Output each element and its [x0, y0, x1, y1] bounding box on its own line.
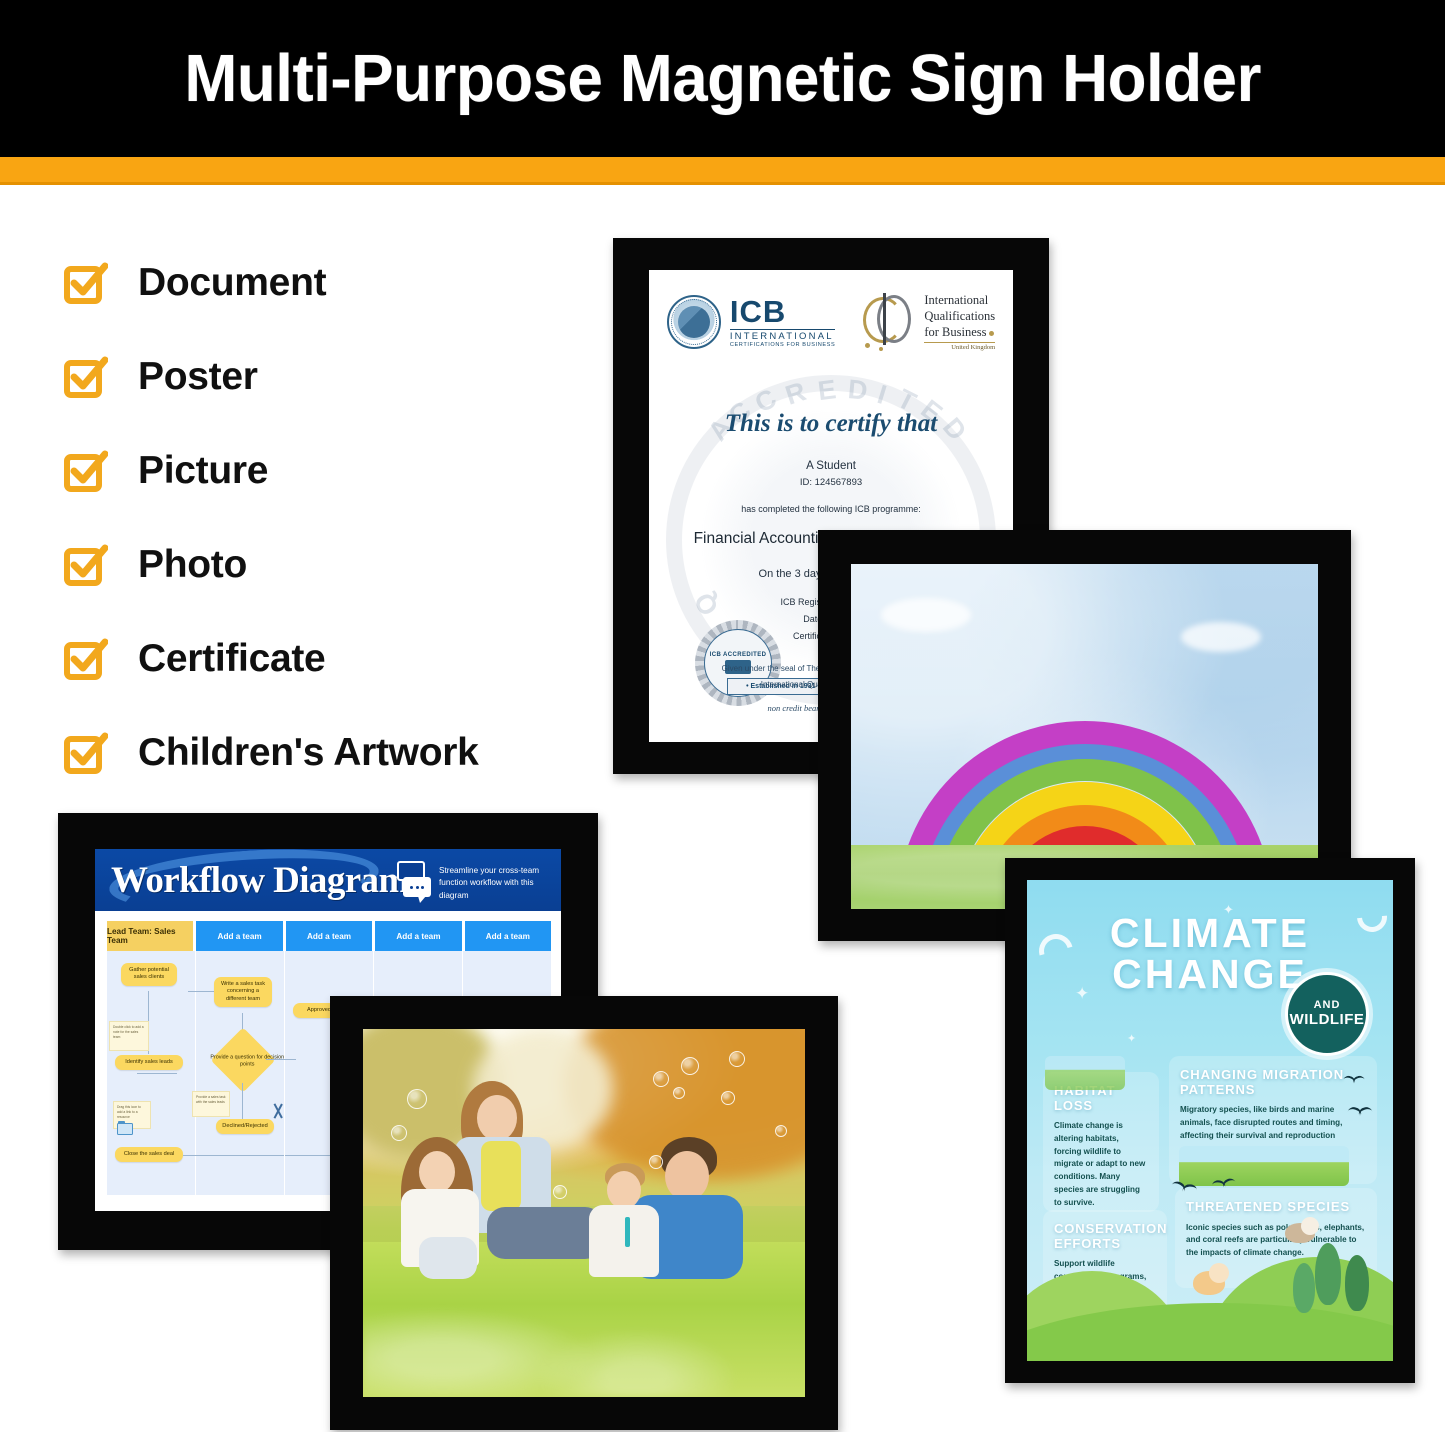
iqb-line3: for Business [924, 325, 986, 339]
cloud-shape [881, 598, 971, 632]
bubble [775, 1125, 787, 1137]
sparkle-icon: ✦ [1127, 1032, 1136, 1045]
flow-node: Close the sales deal [115, 1147, 183, 1162]
bubble [729, 1051, 745, 1067]
flow-node: Declined/Rejected [216, 1119, 274, 1134]
list-item-label: Document [138, 261, 326, 305]
tree-icon [1315, 1243, 1341, 1305]
sticky-note: Double click to add a note for the sales… [109, 1021, 149, 1051]
connector [242, 1083, 243, 1119]
list-item: Picture [62, 424, 602, 518]
checkbox-checked-icon [62, 543, 106, 587]
iqb-line1: International [924, 292, 995, 308]
feature-list: Document Poster Picture [62, 236, 602, 800]
iqb-line2: Qualifications [924, 308, 995, 324]
icb-logo: ICB INTERNATIONAL CERTIFICATIONS FOR BUS… [667, 295, 836, 349]
list-item: Children's Artwork [62, 706, 602, 800]
list-item-label: Photo [138, 543, 247, 587]
column-header-team: Add a team [375, 921, 461, 951]
product-marketing-image: Multi-Purpose Magnetic Sign Holder Docum… [0, 0, 1445, 1432]
workflow-column-headers: Lead Team: Sales Team Add a team Add a t… [107, 921, 551, 951]
section-body: Migratory species, like birds and marine… [1180, 1104, 1366, 1142]
workflow-lane: Write a sales task concerning a differen… [196, 951, 285, 1195]
poster-frame: ✦ ✦ ✦ ✦ CLIMATE CHANGE AND WILDLIFE HABI… [1005, 858, 1415, 1383]
workflow-title: Workflow Diagram [111, 859, 409, 902]
checkbox-checked-icon [62, 637, 106, 681]
climate-poster: ✦ ✦ ✦ ✦ CLIMATE CHANGE AND WILDLIFE HABI… [1027, 880, 1393, 1361]
bubble [681, 1057, 699, 1075]
iqb-monogram-icon [861, 293, 917, 351]
page-title: Multi-Purpose Magnetic Sign Holder [184, 40, 1261, 117]
tree-icon [1345, 1255, 1369, 1311]
list-item: Poster [62, 330, 602, 424]
poster-title-line1: CLIMATE [1027, 914, 1393, 953]
checkbox-checked-icon [62, 731, 106, 775]
cat-illustration [1193, 1263, 1231, 1295]
icb-line2: CERTIFICATIONS FOR BUSINESS [730, 343, 836, 349]
icb-line1: INTERNATIONAL [730, 332, 836, 342]
bubble [653, 1071, 669, 1087]
bubble [649, 1155, 663, 1169]
flow-node: Gather potential sales clients [121, 963, 177, 986]
poster-section-habitat-loss: HABITAT LOSS Climate change is altering … [1043, 1072, 1159, 1212]
list-item-label: Certificate [138, 637, 325, 681]
bubble [673, 1087, 685, 1099]
column-header-lead: Lead Team: Sales Team [107, 921, 193, 951]
accent-band [0, 157, 1445, 185]
checkbox-checked-icon [62, 261, 106, 305]
bubble [391, 1125, 407, 1141]
certificate-student-id: ID: 124567893 [649, 477, 1013, 488]
chat-bubble-icon [393, 861, 433, 899]
bird-icon [1343, 1076, 1365, 1086]
badge-line2: WILDLIFE [1290, 1012, 1365, 1028]
bubble-wand-icon [625, 1217, 630, 1247]
section-heading: CHANGING MIGRATION PATTERNS [1180, 1068, 1366, 1097]
section-body: Climate change is altering habitats, for… [1054, 1120, 1148, 1209]
list-item-label: Poster [138, 355, 258, 399]
connector-arrow [137, 1073, 177, 1074]
list-item-label: Children's Artwork [138, 731, 478, 775]
folder-icon [117, 1123, 133, 1135]
checkbox-checked-icon [62, 355, 106, 399]
certificate-completed-line: has completed the following ICB programm… [649, 504, 1013, 514]
iqb-logo: International Qualifications for Busines… [861, 292, 995, 352]
list-item: Photo [62, 518, 602, 612]
bubble [721, 1091, 735, 1105]
certificate-certify-line: This is to certify that [649, 410, 1013, 438]
tree-icon [1293, 1263, 1315, 1313]
list-item: Document [62, 236, 602, 330]
column-header-team: Add a team [286, 921, 372, 951]
column-header-team: Add a team [465, 921, 551, 951]
mini-landscape [1045, 1056, 1125, 1090]
iqb-country: United Kingdom [924, 342, 995, 352]
certificate-student-name: A Student [649, 460, 1013, 472]
cloud-shape [1181, 622, 1261, 652]
family-photo [363, 1029, 805, 1397]
list-item: Certificate [62, 612, 602, 706]
icb-seal-icon [667, 295, 721, 349]
flow-node: Identify sales leads [115, 1055, 183, 1070]
workflow-lane: Gather potential sales clients Double cl… [107, 951, 196, 1195]
checkbox-checked-icon [62, 449, 106, 493]
flow-node: Write a sales task concerning a differen… [214, 977, 272, 1007]
bubble [407, 1089, 427, 1109]
list-item-label: Picture [138, 449, 268, 493]
cat-illustration [1285, 1217, 1319, 1243]
mini-landscape [1179, 1146, 1349, 1186]
bird-icon [1347, 1107, 1372, 1119]
accredited-seal-text: ICB ACCREDITED [710, 652, 767, 658]
cross-mark-icon [270, 1103, 286, 1119]
certificate-logos: ICB INTERNATIONAL CERTIFICATIONS FOR BUS… [649, 292, 1013, 352]
workflow-banner: Workflow Diagram Streamline your cross-t… [95, 849, 561, 911]
icb-acronym: ICB [730, 296, 836, 327]
sticky-note: Provide a sales task with the sales lead… [192, 1091, 230, 1117]
bubble [553, 1185, 567, 1199]
column-header-team: Add a team [196, 921, 282, 951]
wildlife-badge: AND WILDLIFE [1285, 972, 1369, 1056]
header-bar: Multi-Purpose Magnetic Sign Holder [0, 0, 1445, 157]
photo-frame [330, 996, 838, 1430]
workflow-tagline: Streamline your cross-team function work… [439, 865, 551, 902]
